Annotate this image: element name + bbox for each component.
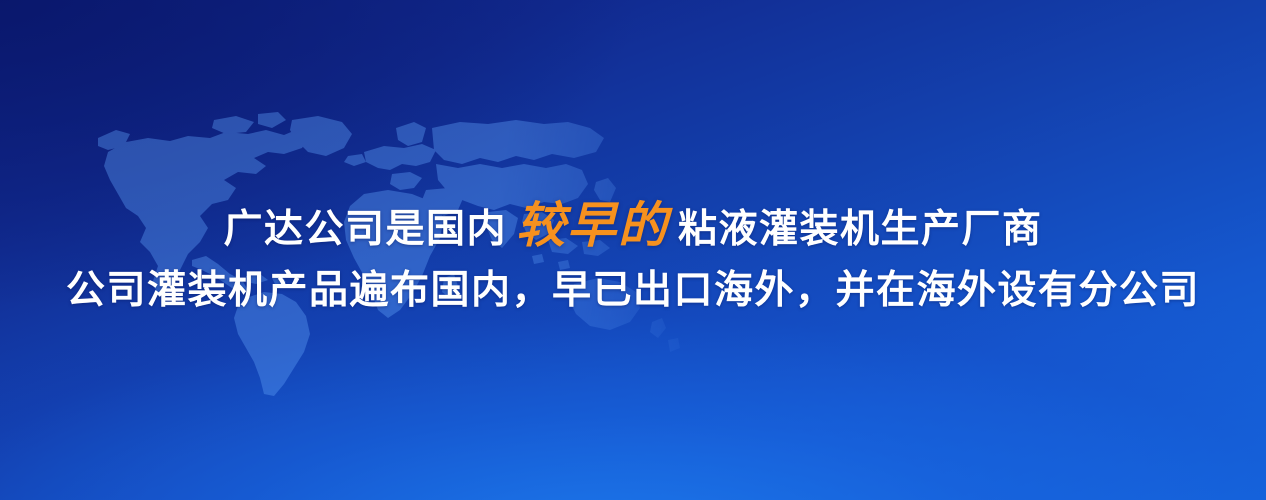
subheadline: 公司灌装机产品遍布国内，早已出口海外，并在海外设有分公司: [66, 271, 1200, 310]
headline-prefix: 广达公司是国内: [223, 210, 507, 249]
headline-highlight: 较早的: [507, 202, 678, 251]
hero-banner: 广达公司是国内 较早的 粘液灌装机生产厂商 公司灌装机产品遍布国内，早已出口海外…: [0, 0, 1266, 500]
headline-suffix: 粘液灌装机生产厂商: [678, 210, 1043, 249]
banner-copy: 广达公司是国内 较早的 粘液灌装机生产厂商 公司灌装机产品遍布国内，早已出口海外…: [0, 0, 1266, 500]
headline: 广达公司是国内 较早的 粘液灌装机生产厂商: [223, 202, 1042, 251]
